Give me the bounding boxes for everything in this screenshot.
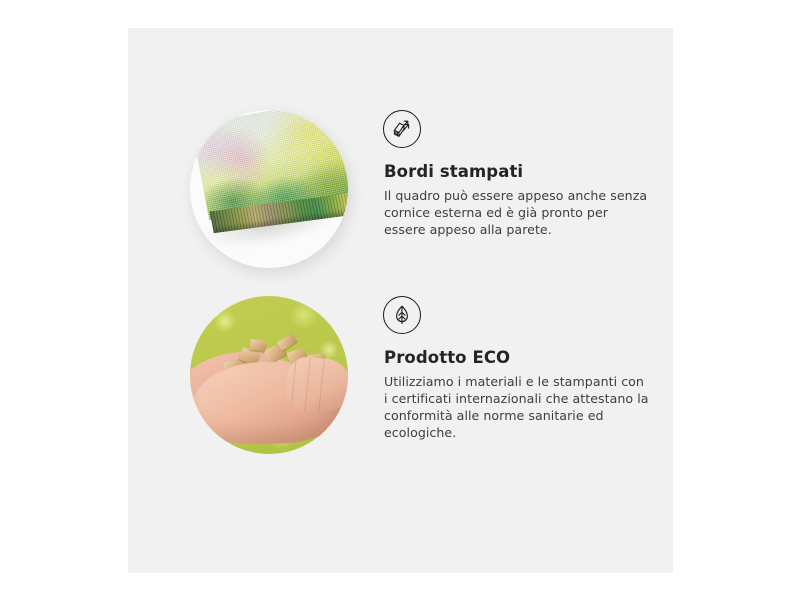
- fingers: [284, 356, 348, 414]
- eco-photo-illustration: [190, 296, 348, 454]
- canvas-print-illustration: [190, 110, 348, 268]
- canvas-print-corner-photo: [190, 110, 348, 268]
- feature-body: Utilizziamo i materiali e le stampanti c…: [384, 373, 651, 441]
- feature-text-eco-product: Prodotto ECO Utilizziamo i materiali e l…: [383, 296, 651, 441]
- feature-text-printed-edges: Bordi stampati Il quadro può essere appe…: [383, 110, 651, 238]
- leaf-icon: [383, 296, 421, 334]
- product-info-graphic: Bordi stampati Il quadro può essere appe…: [0, 0, 800, 600]
- canvas-wrapped-edge-icon: [383, 110, 421, 148]
- hands-holding-wood-chips-photo: [190, 296, 348, 454]
- feature-panel: Bordi stampati Il quadro può essere appe…: [128, 28, 673, 573]
- feature-title: Bordi stampati: [384, 162, 651, 182]
- feature-body: Il quadro può essere appeso anche senza …: [384, 187, 651, 238]
- feature-title: Prodotto ECO: [384, 348, 651, 368]
